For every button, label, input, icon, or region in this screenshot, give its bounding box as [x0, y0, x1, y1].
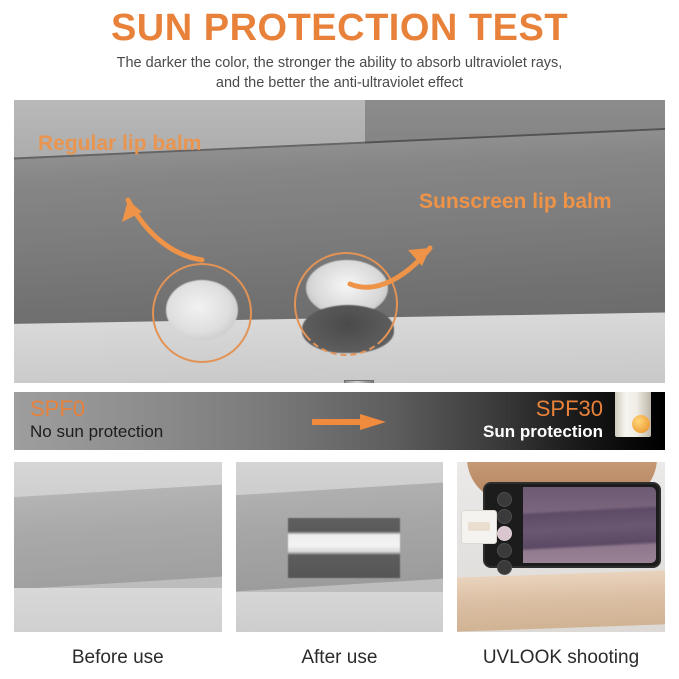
- settings-icon: [497, 560, 512, 575]
- flash-icon: [497, 492, 512, 507]
- label-sunscreen-lip-balm: Sunscreen lip balm: [419, 190, 612, 214]
- caption-after-use: After use: [236, 645, 444, 675]
- panel-uvlook-shooting: [457, 462, 665, 632]
- comparison-panels: [14, 462, 665, 632]
- regular-balm-circle-marker: [152, 263, 252, 363]
- spf-right-subtitle: Sun protection: [483, 421, 603, 442]
- mode-icon: [497, 543, 512, 558]
- uvlook-real-forearm: [457, 570, 665, 632]
- shutter-button[interactable]: [497, 526, 512, 541]
- uvlook-uv-card-strip: [468, 522, 490, 531]
- uvlook-phone: [483, 482, 661, 568]
- regular-balm-arrow-icon: [84, 160, 214, 270]
- page-title: SUN PROTECTION TEST: [0, 6, 679, 50]
- uvlook-uv-card: [461, 510, 497, 544]
- before-panel-forearm: [14, 483, 222, 589]
- panel-after-use: [236, 462, 444, 632]
- sunscreen-balm-arrow-icon: [344, 228, 464, 298]
- uvlook-phone-screen: [523, 487, 656, 563]
- product-tube-body: LIP BALM SUNSCREEN: [615, 392, 651, 437]
- header: SUN PROTECTION TEST The darker the color…: [0, 0, 679, 93]
- uvlook-screen-arm-image: [523, 504, 656, 550]
- after-panel-balm-swatch: [288, 518, 400, 578]
- spf-right-title: SPF30: [483, 396, 603, 421]
- subtitle-line-2: and the better the anti-ultraviolet effe…: [60, 73, 620, 93]
- subtitle-line-1: The darker the color, the stronger the a…: [60, 53, 620, 73]
- product-lip-balm-tube: LIP BALM SUNSCREEN: [612, 392, 654, 437]
- hero-photo: Regular lip balm Sunscreen lip balm: [14, 100, 665, 383]
- right-arrow-icon: [312, 414, 386, 430]
- panel-captions: Before use After use UVLOOK shooting: [14, 645, 665, 675]
- panel-before-use: [14, 462, 222, 632]
- label-regular-lip-balm: Regular lip balm: [38, 132, 201, 156]
- caption-before-use: Before use: [14, 645, 222, 675]
- caption-uvlook-shooting: UVLOOK shooting: [457, 645, 665, 675]
- before-panel-foreground: [14, 588, 222, 632]
- timer-icon: [497, 509, 512, 524]
- spf-right-group: SPF30 Sun protection: [483, 396, 603, 442]
- spf-left-title: SPF0: [30, 396, 163, 421]
- after-panel-foreground: [236, 592, 444, 632]
- hero-lip-balm-tube: [344, 380, 374, 383]
- spf-left-group: SPF0 No sun protection: [30, 396, 163, 442]
- spf-left-subtitle: No sun protection: [30, 421, 163, 442]
- subtitle: The darker the color, the stronger the a…: [60, 53, 620, 93]
- orange-fruit-icon: [632, 415, 650, 433]
- spf-gradient-bar: SPF0 No sun protection SPF30 Sun protect…: [14, 392, 665, 450]
